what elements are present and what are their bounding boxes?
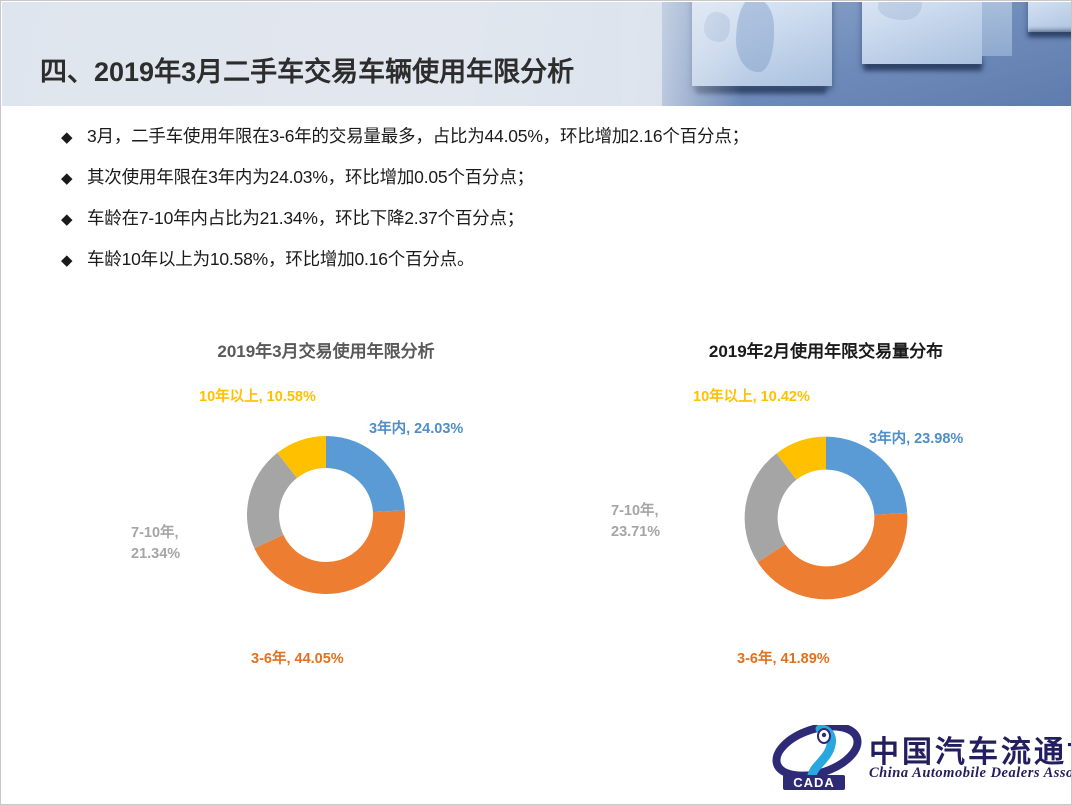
label-3to6-february: 3-6年, 41.89% [737,649,830,670]
svg-text:CADA: CADA [793,775,835,790]
donut-segments-february [745,437,908,600]
bullet-item-2: ◆ 其次使用年限在3年内为24.03%，环比增加0.05个百分点； [61,164,1001,205]
diamond-bullet-icon: ◆ [61,130,87,145]
diamond-bullet-icon: ◆ [61,212,87,227]
cube-3 [1028,2,1072,32]
label-10plus-february: 10年以上, 10.42% [693,387,810,408]
cube-2 [862,2,982,64]
bullet-item-4: ◆ 车龄10年以上为10.58%，环比增加0.16个百分点。 [61,246,1001,287]
label-under3-february: 3年内, 23.98% [869,429,963,450]
label-7to10-february: 7-10年, 23.71% [611,501,660,543]
cada-logo-mark-icon: CADA [771,725,863,791]
donut-slice-3-6年 [758,513,908,600]
donut-segments-march [247,436,405,594]
donut-march-svg [226,415,426,615]
chart-title-march: 2019年3月交易使用年限分析 [111,337,541,362]
bullet-item-1: ◆ 3月，二手车使用年限在3-6年的交易量最多，占比为44.05%，环比增加2.… [61,123,1001,164]
diamond-bullet-icon: ◆ [61,171,87,186]
donut-slice-7-10年 [745,453,797,562]
donut-chart-march: 2019年3月交易使用年限分析 10年以上, 10.58% 3年内, 24.03… [111,319,541,719]
banner-gradient-fade [622,2,742,106]
bullet-item-3: ◆ 车龄在7-10年内占比为21.34%，环比下降2.37个百分点； [61,205,1001,246]
bullet-text-4: 车龄10年以上为10.58%，环比增加0.16个百分点。 [87,246,474,271]
cube-shadow-3 [1028,30,1072,37]
bullet-text-1: 3月，二手车使用年限在3-6年的交易量最多，占比为44.05%，环比增加2.16… [87,123,749,148]
donut-chart-february: 2019年2月使用年限交易量分布 10年以上, 10.42% 3年内, 23.9… [611,319,1041,719]
slide-canvas: 四、2019年3月二手车交易车辆使用年限分析 ◆ 3月，二手车使用年限在3-6年… [0,0,1072,805]
bullet-text-2: 其次使用年限在3年内为24.03%，环比增加0.05个百分点； [87,164,534,189]
bullet-text-3: 车龄在7-10年内占比为21.34%，环比下降2.37个百分点； [87,205,524,230]
diamond-bullet-icon: ◆ [61,253,87,268]
label-7to10-march: 7-10年, 21.34% [131,523,180,565]
header-banner: 四、2019年3月二手车交易车辆使用年限分析 [2,2,1072,106]
donut-march-canvas [226,415,426,620]
cube-2-side-face [982,2,1012,56]
chart-title-february: 2019年2月使用年限交易量分布 [611,337,1041,362]
label-3to6-march: 3-6年, 44.05% [251,649,344,670]
globe-blob-3 [878,2,922,20]
logo-english-name: China Automobile Dealers Association [869,765,1072,782]
label-under3-march: 3年内, 24.03% [369,419,463,440]
bullet-list: ◆ 3月，二手车使用年限在3-6年的交易量最多，占比为44.05%，环比增加2.… [61,123,1001,287]
label-10plus-march: 10年以上, 10.58% [199,387,316,408]
page-title: 四、2019年3月二手车交易车辆使用年限分析 [40,50,574,89]
cada-logo: CADA 中国汽车流通协会 China Automobile Dealers A… [771,723,1061,793]
donut-slice-3年内 [326,436,405,512]
